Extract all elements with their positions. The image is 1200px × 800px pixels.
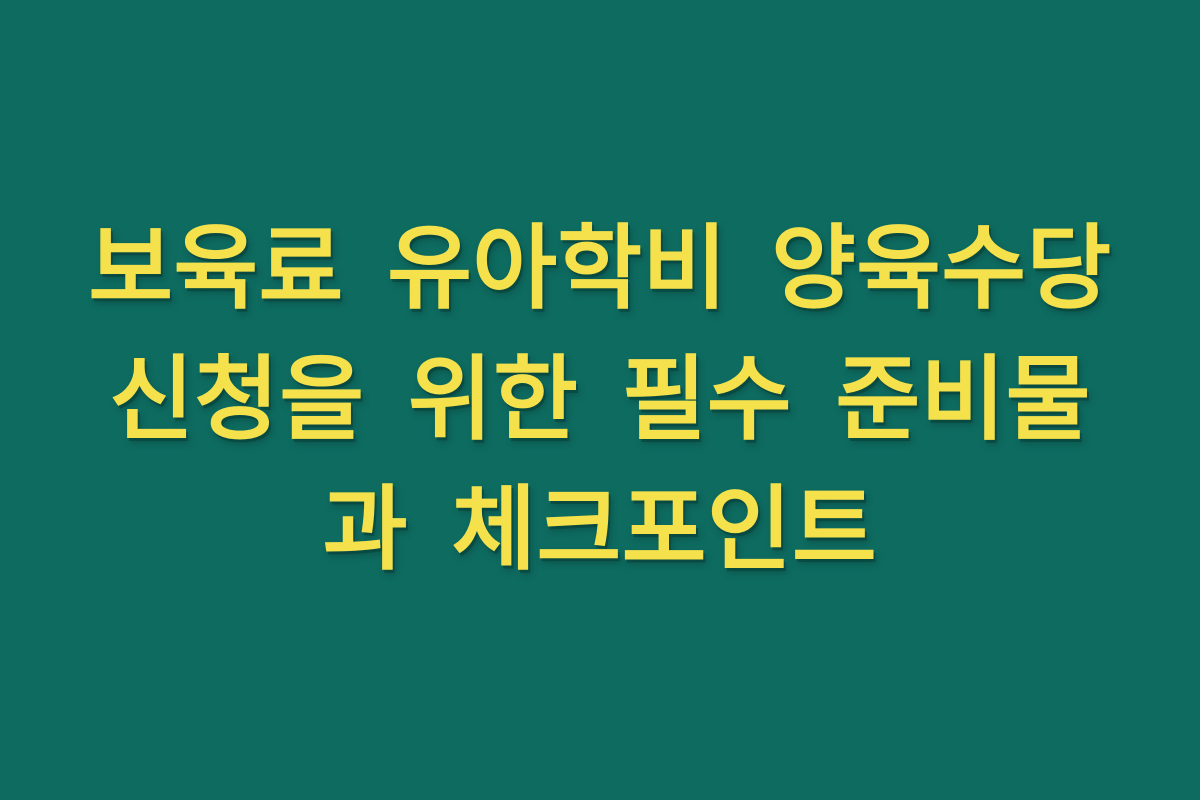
title-card: 보육료 유아학비 양육수당 신청을 위한 필수 준비물과 체크포인트 xyxy=(0,0,1200,800)
headline-text: 보육료 유아학비 양육수당 신청을 위한 필수 준비물과 체크포인트 xyxy=(85,204,1115,596)
